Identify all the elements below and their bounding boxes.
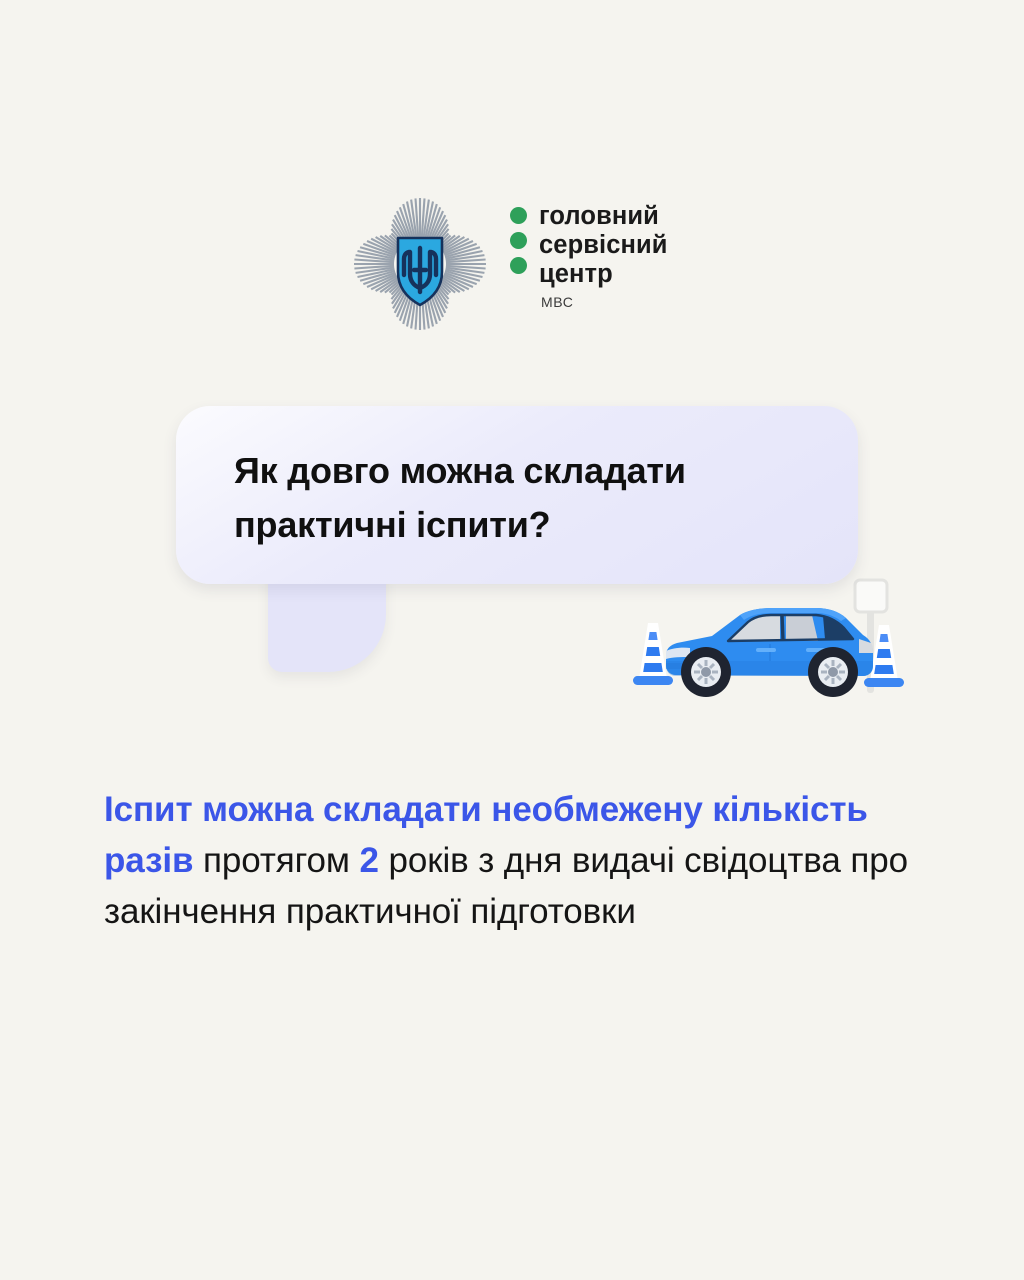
brand-line-3: центр [539,260,668,289]
answer-paragraph: Іспит можна складати необмежену кількіст… [104,784,934,937]
brand-dot-icon [510,207,527,224]
mvs-emblem-icon [352,196,488,332]
brand-subtitle: МВС [541,294,668,310]
brand-wordmark: головний сервісний центр МВС [510,196,668,310]
brand-line-2: сервісний [539,231,668,260]
driving-exam-illustration [620,575,930,725]
question-text: Як довго можна складати практичні іспити… [234,444,854,552]
answer-number: 2 [360,841,379,880]
brand-dot-icon [510,257,527,274]
answer-plain-1: протягом [193,841,359,880]
brand-dots-group [510,202,527,274]
blue-hatchback-car [666,608,873,697]
brand-line-1: головний [539,202,668,231]
brand-logo-block: головний сервісний центр МВС [352,196,668,332]
brand-dot-icon [510,232,527,249]
